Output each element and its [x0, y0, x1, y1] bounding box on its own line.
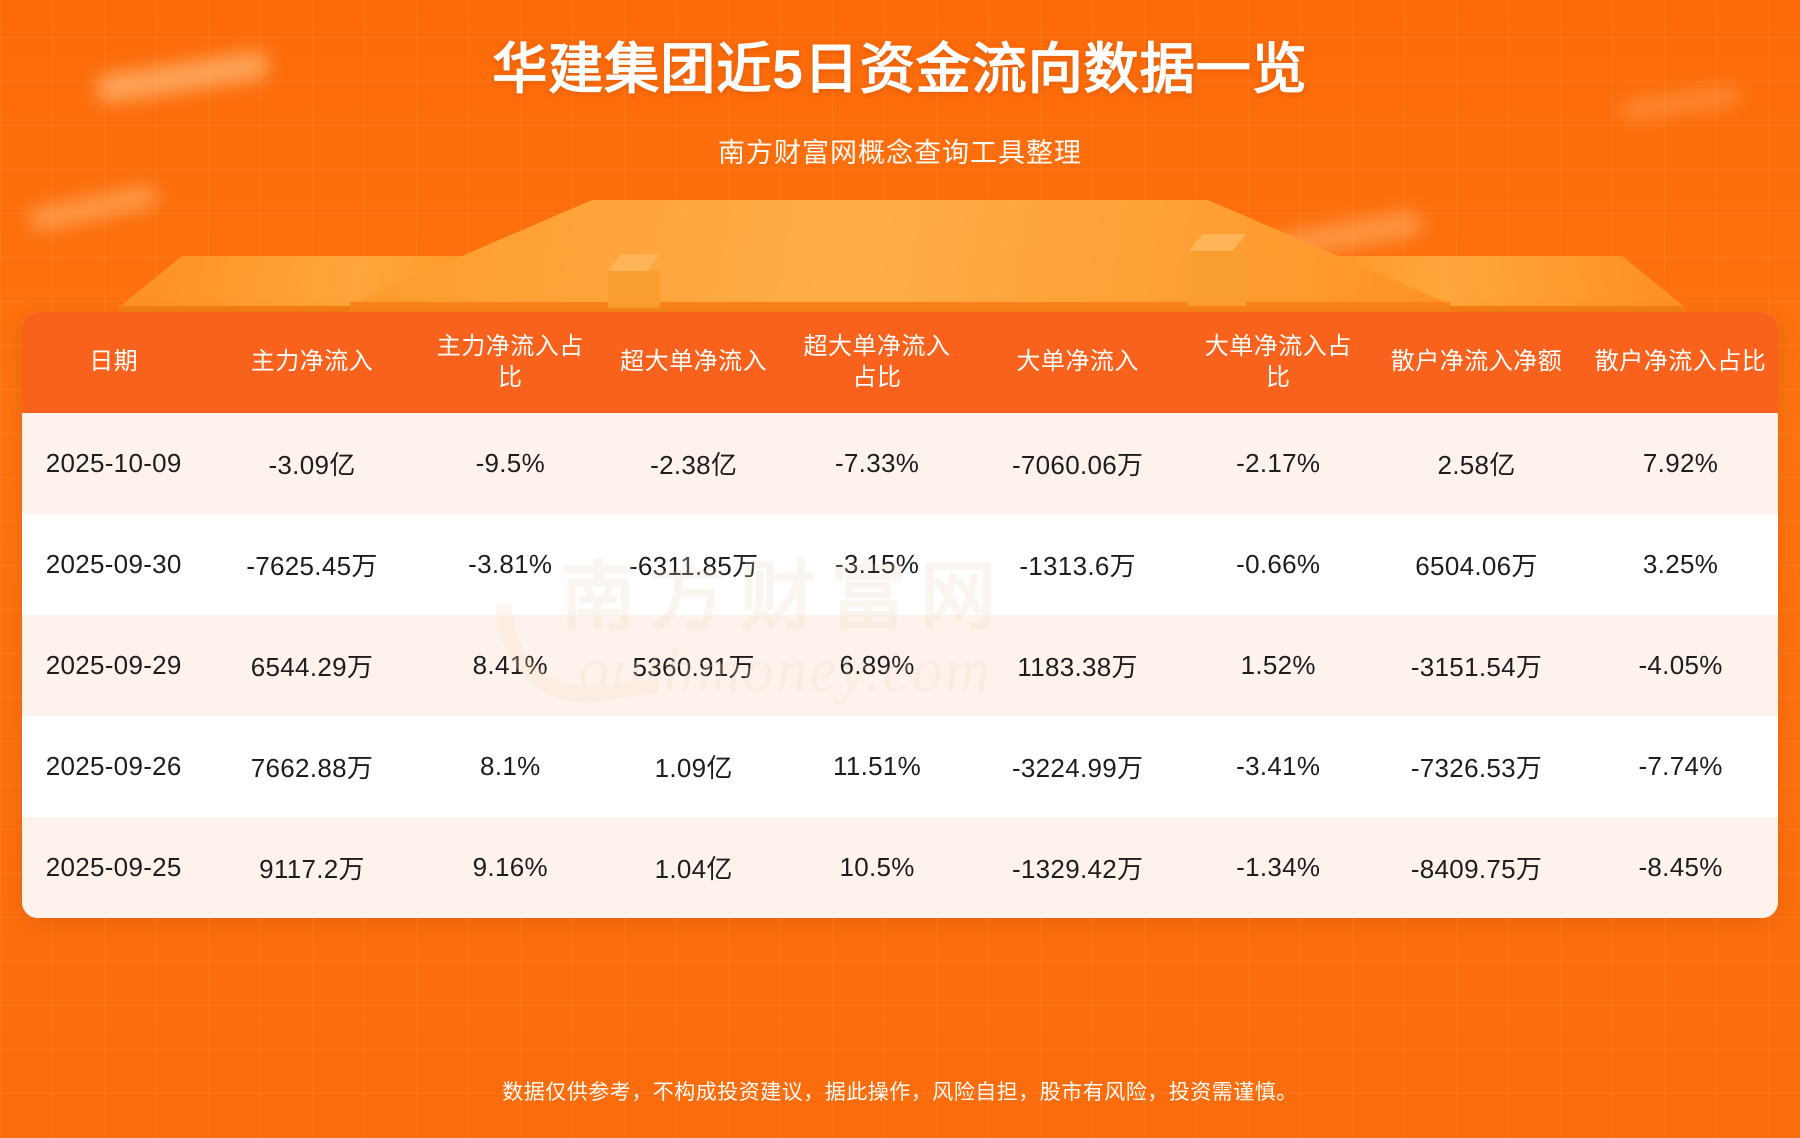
- cell-lg-net: -1329.42万: [969, 817, 1187, 918]
- cell-xl-net: 1.09亿: [602, 716, 785, 817]
- column-header-large-pct: 大单净流入占比: [1187, 312, 1370, 413]
- cell-lg-pct: -2.17%: [1187, 413, 1370, 514]
- cell-date: 2025-09-29: [22, 615, 205, 716]
- cell-main-pct: 9.16%: [419, 817, 602, 918]
- podium-cube-small: [1188, 234, 1246, 306]
- cell-lg-pct: -3.41%: [1187, 716, 1370, 817]
- cell-lg-net: -1313.6万: [969, 514, 1187, 615]
- table-row: 2025-09-26 7662.88万 8.1% 1.09亿 11.51% -3…: [22, 716, 1778, 817]
- podium-cube-small: [608, 254, 660, 308]
- cell-retail-pct: -8.45%: [1583, 817, 1778, 918]
- cell-retail-net: -3151.54万: [1370, 615, 1583, 716]
- fund-flow-table: 日期 主力净流入 主力净流入占比 超大单净流入 超大单净流入占比 大单净流入 大…: [22, 312, 1778, 918]
- fund-flow-table-card: 日期 主力净流入 主力净流入占比 超大单净流入 超大单净流入占比 大单净流入 大…: [22, 312, 1778, 918]
- cell-main-net: 6544.29万: [205, 615, 418, 716]
- cell-xl-net: -2.38亿: [602, 413, 785, 514]
- cell-date: 2025-09-26: [22, 716, 205, 817]
- cell-retail-net: 6504.06万: [1370, 514, 1583, 615]
- table-header: 日期 主力净流入 主力净流入占比 超大单净流入 超大单净流入占比 大单净流入 大…: [22, 312, 1778, 413]
- page-root: 华建集团近5日资金流向数据一览 南方财富网概念查询工具整理 日期 主力净流入 主…: [0, 0, 1800, 1138]
- table-row: 2025-09-25 9117.2万 9.16% 1.04亿 10.5% -13…: [22, 817, 1778, 918]
- table-header-row: 日期 主力净流入 主力净流入占比 超大单净流入 超大单净流入占比 大单净流入 大…: [22, 312, 1778, 413]
- cell-date: 2025-10-09: [22, 413, 205, 514]
- table-row: 2025-09-29 6544.29万 8.41% 5360.91万 6.89%…: [22, 615, 1778, 716]
- cell-xl-pct: 10.5%: [785, 817, 968, 918]
- cell-retail-pct: -7.74%: [1583, 716, 1778, 817]
- cell-lg-pct: -1.34%: [1187, 817, 1370, 918]
- cell-retail-pct: 7.92%: [1583, 413, 1778, 514]
- light-streak-decoration: [27, 183, 159, 234]
- cell-xl-pct: -3.15%: [785, 514, 968, 615]
- cell-retail-net: -8409.75万: [1370, 817, 1583, 918]
- column-header-extra-large-net: 超大单净流入: [602, 312, 785, 413]
- column-header-main-net: 主力净流入: [205, 312, 418, 413]
- table-row: 2025-09-30 -7625.45万 -3.81% -6311.85万 -3…: [22, 514, 1778, 615]
- cell-main-net: -7625.45万: [205, 514, 418, 615]
- page-header: 华建集团近5日资金流向数据一览 南方财富网概念查询工具整理: [0, 0, 1800, 170]
- cell-date: 2025-09-30: [22, 514, 205, 615]
- cell-main-pct: -3.81%: [419, 514, 602, 615]
- cell-lg-pct: -0.66%: [1187, 514, 1370, 615]
- cell-retail-net: -7326.53万: [1370, 716, 1583, 817]
- cell-main-pct: 8.1%: [419, 716, 602, 817]
- cell-main-pct: -9.5%: [419, 413, 602, 514]
- cell-main-net: -3.09亿: [205, 413, 418, 514]
- cell-retail-pct: 3.25%: [1583, 514, 1778, 615]
- column-header-extra-large-pct: 超大单净流入占比: [785, 312, 968, 413]
- cell-xl-pct: 11.51%: [785, 716, 968, 817]
- cell-lg-net: 1183.38万: [969, 615, 1187, 716]
- table-row: 2025-10-09 -3.09亿 -9.5% -2.38亿 -7.33% -7…: [22, 413, 1778, 514]
- page-subtitle: 南方财富网概念查询工具整理: [0, 131, 1800, 170]
- cell-main-pct: 8.41%: [419, 615, 602, 716]
- cell-lg-pct: 1.52%: [1187, 615, 1370, 716]
- podium-block-left-top: [118, 256, 518, 308]
- table-body: 2025-10-09 -3.09亿 -9.5% -2.38亿 -7.33% -7…: [22, 413, 1778, 918]
- cell-xl-net: 5360.91万: [602, 615, 785, 716]
- disclaimer-text: 数据仅供参考，不构成投资建议，据此操作，风险自担，股市有风险，投资需谨慎。: [0, 1076, 1800, 1106]
- podium-block-right-top: [1286, 256, 1686, 308]
- podium-cube-small: [523, 240, 563, 306]
- column-header-main-pct: 主力净流入占比: [419, 312, 602, 413]
- column-header-large-net: 大单净流入: [969, 312, 1187, 413]
- cell-main-net: 9117.2万: [205, 817, 418, 918]
- column-header-date: 日期: [22, 312, 205, 413]
- cell-main-net: 7662.88万: [205, 716, 418, 817]
- page-title: 华建集团近5日资金流向数据一览: [0, 36, 1800, 103]
- cell-lg-net: -7060.06万: [969, 413, 1187, 514]
- podium-block-center-top: [350, 200, 1450, 304]
- cell-retail-net: 2.58亿: [1370, 413, 1583, 514]
- cell-xl-net: 1.04亿: [602, 817, 785, 918]
- light-streak-decoration: [1271, 209, 1423, 261]
- cell-retail-pct: -4.05%: [1583, 615, 1778, 716]
- cell-xl-pct: -7.33%: [785, 413, 968, 514]
- cell-xl-net: -6311.85万: [602, 514, 785, 615]
- cell-lg-net: -3224.99万: [969, 716, 1187, 817]
- column-header-retail-pct: 散户净流入占比: [1583, 312, 1778, 413]
- column-header-retail-net: 散户净流入净额: [1370, 312, 1583, 413]
- cell-xl-pct: 6.89%: [785, 615, 968, 716]
- cell-date: 2025-09-25: [22, 817, 205, 918]
